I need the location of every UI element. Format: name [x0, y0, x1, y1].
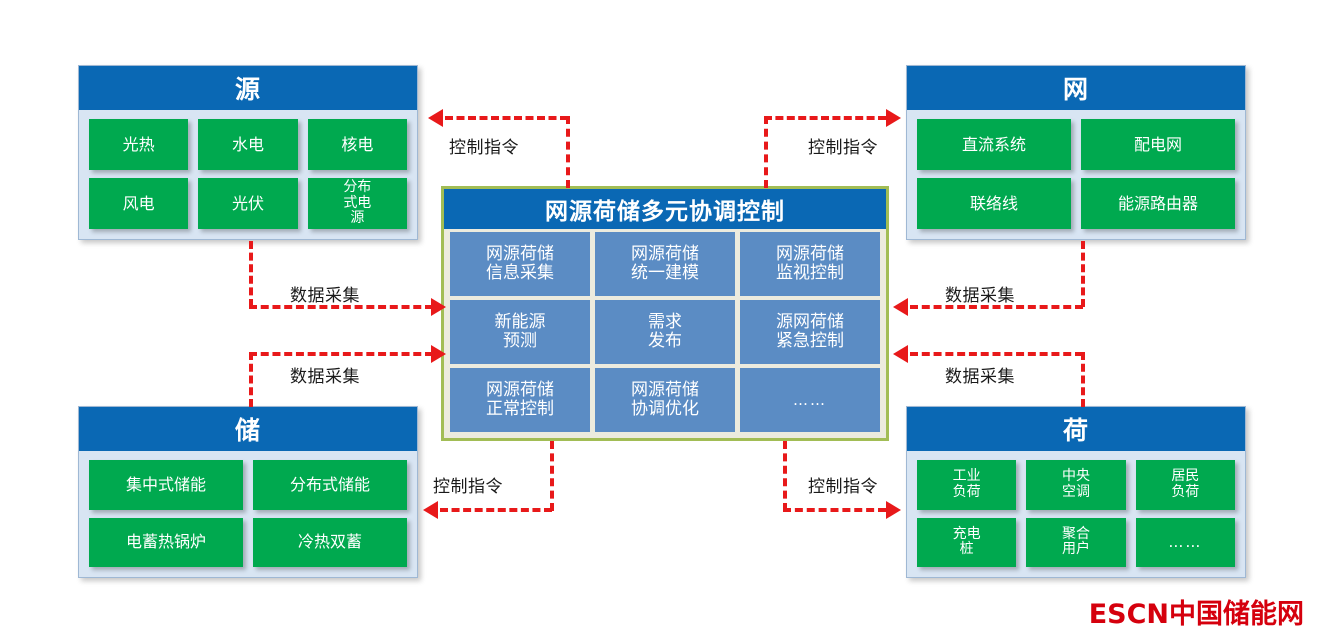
connector-control-load-arrowhead: [886, 501, 901, 519]
connector-data-source-arrowhead: [431, 298, 446, 316]
chip-storage-distributed[interactable]: 分布式储能: [253, 460, 407, 510]
panel-load-row-1: 工业 负荷 中央 空调 居民 负荷: [917, 460, 1235, 510]
connector-control-storage-arrowhead: [423, 501, 438, 519]
chip-storage-electric-boiler[interactable]: 电蓄热锅炉: [89, 518, 243, 568]
tile-emergency-control[interactable]: 源网荷储 紧急控制: [740, 300, 880, 364]
chip-source-hedian[interactable]: 核电: [308, 119, 407, 170]
connector-data-grid-vertical: [1081, 241, 1085, 307]
chip-source-guangfu[interactable]: 光伏: [198, 178, 297, 229]
connector-control-load-vertical: [783, 441, 787, 511]
connector-control-load-horizontal: [783, 508, 886, 512]
panel-storage-row-2: 电蓄热锅炉 冷热双蓄: [89, 518, 407, 568]
label-control-to-storage: 控制指令: [433, 472, 503, 497]
center-row-2: 新能源 预测 需求 发布 源网荷储 紧急控制: [450, 300, 880, 364]
panel-grid-title: 网: [907, 66, 1245, 110]
panel-load-title: 荷: [907, 407, 1245, 451]
label-data-from-source: 数据采集: [290, 281, 360, 306]
tile-info-collection[interactable]: 网源荷储 信息采集: [450, 232, 590, 296]
connector-control-storage-vertical: [550, 441, 554, 511]
center-row-3: 网源荷储 正常控制 网源荷储 协调优化 ……: [450, 368, 880, 432]
panel-grid-row-2: 联络线 能源路由器: [917, 178, 1235, 229]
label-control-to-grid: 控制指令: [808, 133, 878, 158]
panel-grid[interactable]: 网 直流系统 配电网 联络线 能源路由器: [906, 65, 1246, 240]
connector-control-source-horizontal: [445, 116, 568, 120]
label-control-to-source: 控制指令: [449, 133, 519, 158]
center-row-1: 网源荷储 信息采集 网源荷储 统一建模 网源荷储 监视控制: [450, 232, 880, 296]
chip-source-shuidian[interactable]: 水电: [198, 119, 297, 170]
label-data-from-storage: 数据采集: [290, 362, 360, 387]
connector-data-storage-arrowhead: [431, 345, 446, 363]
tile-monitoring-control[interactable]: 网源荷储 监视控制: [740, 232, 880, 296]
panel-source-body: 光热 水电 核电 风电 光伏 分布 式电 源: [79, 110, 417, 239]
label-control-to-load: 控制指令: [808, 472, 878, 497]
panel-storage-title: 储: [79, 407, 417, 451]
panel-source-row-2: 风电 光伏 分布 式电 源: [89, 178, 407, 229]
chip-load-central-ac[interactable]: 中央 空调: [1026, 460, 1125, 510]
panel-load[interactable]: 荷 工业 负荷 中央 空调 居民 负荷 充电 桩 聚合 用户 ……: [906, 406, 1246, 578]
connector-data-load-arrowhead: [893, 345, 908, 363]
chip-storage-centralized[interactable]: 集中式储能: [89, 460, 243, 510]
panel-load-row-2: 充电 桩 聚合 用户 ……: [917, 518, 1235, 568]
connector-control-grid-vertical: [764, 116, 768, 188]
panel-storage-body: 集中式储能 分布式储能 电蓄热锅炉 冷热双蓄: [79, 451, 417, 577]
panel-source[interactable]: 源 光热 水电 核电 风电 光伏 分布 式电 源: [78, 65, 418, 240]
chip-grid-tie-line[interactable]: 联络线: [917, 178, 1071, 229]
connector-data-source-vertical: [249, 241, 253, 307]
connector-control-grid-arrowhead: [886, 109, 901, 127]
tile-more[interactable]: ……: [740, 368, 880, 432]
chip-source-distributed[interactable]: 分布 式电 源: [308, 178, 407, 229]
connector-control-source-vertical: [566, 116, 570, 188]
chip-storage-cold-heat[interactable]: 冷热双蓄: [253, 518, 407, 568]
panel-source-title: 源: [79, 66, 417, 110]
connector-data-load-vertical: [1081, 352, 1085, 407]
chip-grid-dc-system[interactable]: 直流系统: [917, 119, 1071, 170]
center-panel-grid: 网源荷储 信息采集 网源荷储 统一建模 网源荷储 监视控制 新能源 预测 需求 …: [444, 229, 886, 438]
panel-load-body: 工业 负荷 中央 空调 居民 负荷 充电 桩 聚合 用户 ……: [907, 451, 1245, 577]
chip-load-aggregated-users[interactable]: 聚合 用户: [1026, 518, 1125, 568]
connector-data-load-horizontal: [910, 352, 1083, 356]
chip-load-residential[interactable]: 居民 负荷: [1136, 460, 1235, 510]
chip-grid-energy-router[interactable]: 能源路由器: [1081, 178, 1235, 229]
panel-grid-row-1: 直流系统 配电网: [917, 119, 1235, 170]
chip-load-industrial[interactable]: 工业 负荷: [917, 460, 1016, 510]
chip-source-guangre[interactable]: 光热: [89, 119, 188, 170]
connector-control-source-arrowhead: [428, 109, 443, 127]
panel-source-row-1: 光热 水电 核电: [89, 119, 407, 170]
tile-renewable-forecast[interactable]: 新能源 预测: [450, 300, 590, 364]
panel-center-coordination[interactable]: 网源荷储多元协调控制 网源荷储 信息采集 网源荷储 统一建模 网源荷储 监视控制…: [441, 186, 889, 441]
connector-control-grid-horizontal: [764, 116, 886, 120]
watermark-chinese-text: 中国储能网: [1169, 599, 1304, 630]
panel-grid-body: 直流系统 配电网 联络线 能源路由器: [907, 110, 1245, 239]
diagram-canvas: 源 光热 水电 核电 风电 光伏 分布 式电 源 网 直流系统 配电网 联络线 …: [0, 0, 1318, 637]
connector-data-storage-horizontal: [249, 352, 433, 356]
tile-coordinated-optimization[interactable]: 网源荷储 协调优化: [595, 368, 735, 432]
label-data-from-grid: 数据采集: [945, 281, 1015, 306]
connector-data-storage-vertical: [249, 352, 253, 407]
panel-storage[interactable]: 储 集中式储能 分布式储能 电蓄热锅炉 冷热双蓄: [78, 406, 418, 578]
panel-storage-row-1: 集中式储能 分布式储能: [89, 460, 407, 510]
chip-grid-distribution-network[interactable]: 配电网: [1081, 119, 1235, 170]
tile-demand-publish[interactable]: 需求 发布: [595, 300, 735, 364]
connector-data-grid-arrowhead: [893, 298, 908, 316]
chip-load-charging-pile[interactable]: 充电 桩: [917, 518, 1016, 568]
chip-source-fengdian[interactable]: 风电: [89, 178, 188, 229]
connector-control-storage-horizontal: [440, 508, 552, 512]
tile-normal-control[interactable]: 网源荷储 正常控制: [450, 368, 590, 432]
center-panel-title: 网源荷储多元协调控制: [444, 189, 886, 229]
escn-watermark-logo: ESCN中国储能网: [1089, 592, 1304, 631]
chip-load-more[interactable]: ……: [1136, 518, 1235, 568]
tile-unified-modeling[interactable]: 网源荷储 统一建模: [595, 232, 735, 296]
watermark-latin-text: ESCN: [1089, 599, 1169, 630]
label-data-from-load: 数据采集: [945, 362, 1015, 387]
